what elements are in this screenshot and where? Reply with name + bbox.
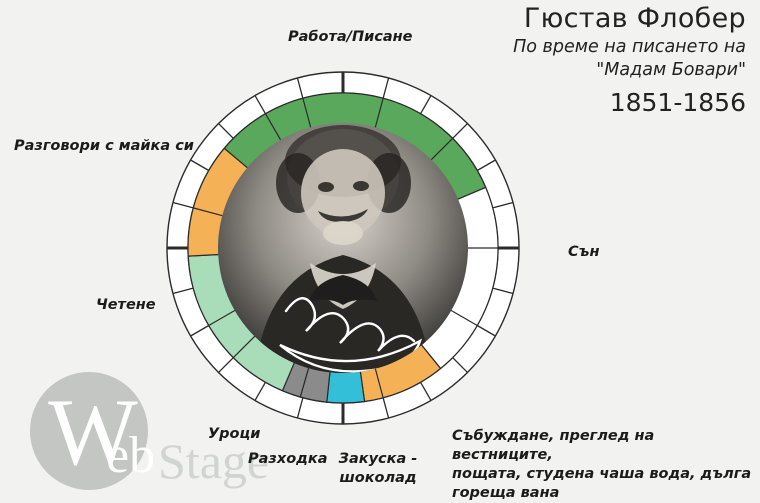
label-work: Работа/Писане [288, 28, 413, 47]
slice-закуска-шо[interactable] [327, 369, 365, 403]
label-sleep: Сън [568, 243, 600, 262]
ring-svg [160, 65, 526, 431]
infographic-canvas: W eb Stage Гюстав Флобер По време на пис… [0, 0, 760, 493]
watermark-circle [30, 372, 148, 490]
daily-routine-ring-chart [160, 65, 526, 431]
watermark-letter: W [34, 384, 152, 484]
label-morning: Събуждане, преглед на вестниците, пощата… [452, 427, 752, 503]
watermark-eb: eb [106, 430, 155, 482]
label-mother: Разговори с майка си [14, 137, 194, 156]
label-snack: Закуска - шоколад [332, 450, 424, 488]
portrait-photo [218, 123, 468, 373]
label-walk: Разходка [248, 450, 328, 469]
label-lessons: Уроци [208, 425, 260, 444]
label-reading: Четене [96, 296, 156, 315]
